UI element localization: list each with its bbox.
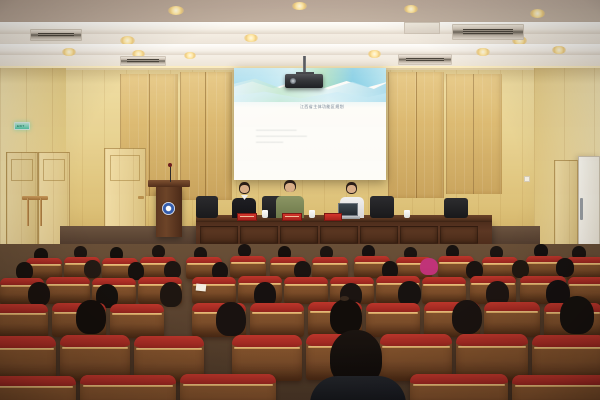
seat-foreground [410,374,508,400]
table-panel [440,226,478,244]
ac-vent [30,29,82,41]
table-panel [240,226,278,244]
double-door-left-leaf[interactable] [6,152,38,248]
projector-lens [290,78,296,84]
water-cup [262,210,268,218]
ac-vent [398,54,452,65]
table-panel [400,226,438,244]
downlight [476,48,490,56]
panelist-left-face [240,185,249,193]
auditorium-photo: 江西省主体功能区规划 ———————————— ——————————————— … [0,0,600,400]
side-door-right[interactable] [554,160,578,252]
downlight [530,9,545,18]
downlight [292,2,307,10]
vent-slats [406,58,443,62]
podium-microphone-stand [170,166,171,182]
wood-panel-column-far-right [446,74,502,194]
panel-seam [473,74,474,194]
name-placard [324,213,342,221]
downlight [168,6,184,15]
stage-chair [196,196,218,218]
attendee-foreground-shoulders [310,376,406,400]
name-placard [237,213,257,221]
stage-chair [370,196,394,218]
seat-foreground [0,376,76,400]
downlight [62,48,76,56]
light-switch-plate[interactable] [524,176,530,182]
vent-slats [463,29,513,35]
door-push-bar-vertical[interactable] [27,198,29,226]
panel-seam [149,74,150,196]
panelist-center-face [285,183,295,192]
podium-microphone-head [168,163,172,167]
seat [484,302,540,337]
stage-chair [444,198,468,218]
door-panel [110,155,140,181]
seat [312,257,348,279]
seat [250,303,304,337]
attendee [84,260,101,278]
table-panel [280,226,318,244]
attendee [28,282,50,306]
downlight [404,5,418,13]
podium-emblem [162,202,175,215]
seat [230,256,266,278]
attendee [216,302,246,336]
attendee [160,282,182,307]
vent-slats [127,59,159,63]
downlight [552,46,566,54]
seat-foreground [180,374,276,400]
table-panel [320,226,358,244]
seat-foreground [80,375,176,400]
ac-vent [120,56,166,66]
hair-tie [340,296,349,301]
seat [110,304,164,338]
wood-panel-column-right [388,72,444,198]
white-door-handle[interactable] [580,198,583,220]
water-cup [404,210,410,218]
door-push-bar[interactable] [22,196,48,200]
downlight [184,52,196,59]
panel-seam [205,72,206,200]
podium-lectern-top [148,180,190,187]
attendee [420,258,438,275]
attendee [76,300,106,334]
downlight [368,50,381,58]
name-placard [282,213,302,221]
panel-seam [416,72,417,198]
downlight [244,34,258,42]
ac-vent [452,24,524,40]
ceiling-beam [0,44,600,55]
vent-slats [38,33,74,37]
door-panel [11,159,33,181]
seat [0,304,48,338]
exit-sign: EXIT [14,122,30,130]
seat [284,277,328,304]
door-lever-handle[interactable] [138,196,144,199]
water-cup [309,210,315,218]
door-push-bar-vertical[interactable] [40,198,42,226]
exit-sign-label: EXIT [17,124,24,128]
attendee [452,300,482,334]
seat-foreground [512,375,600,400]
panelist-right-face [347,185,356,193]
table-panel [200,226,238,244]
attendee [556,258,574,277]
table-panel [360,226,398,244]
door-panel [43,159,65,181]
handout-paper [196,283,207,291]
ceiling-access-panel [404,22,440,34]
attendee [560,296,594,334]
